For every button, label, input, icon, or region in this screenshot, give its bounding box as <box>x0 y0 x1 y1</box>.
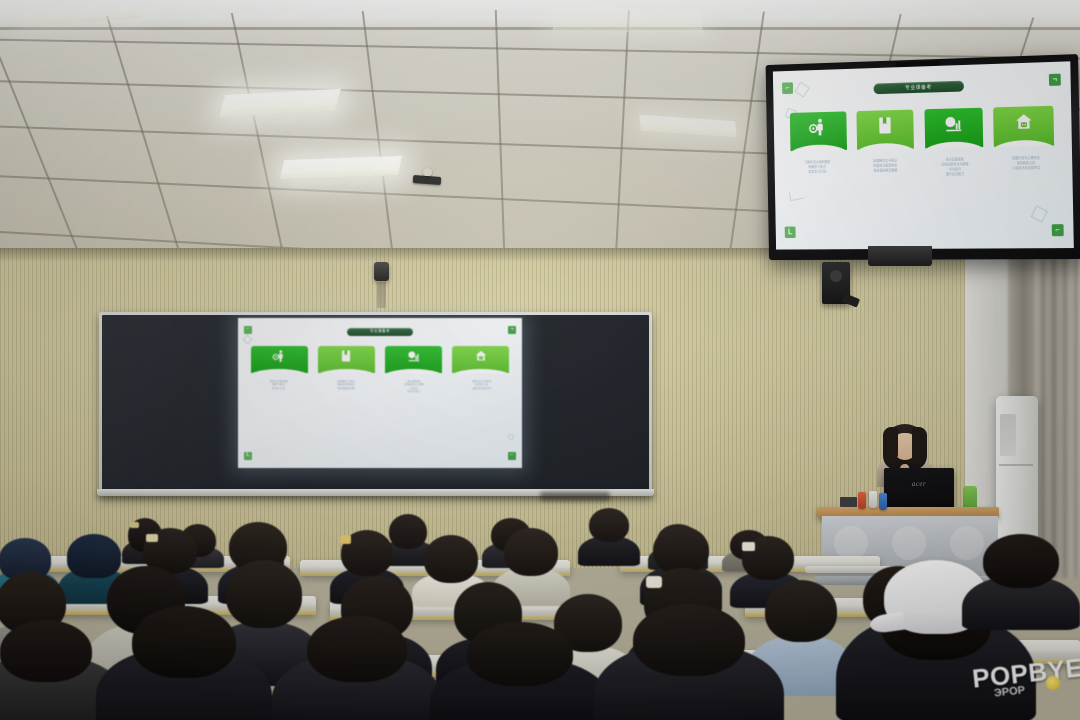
air-conditioner <box>996 396 1038 548</box>
student-head <box>467 622 573 686</box>
slide-blurb-row: 了解考试大纲和题型 明确学习重点 制定复习计划 梳理教材主干知识 构建知识框架体… <box>787 155 1059 179</box>
hair-clip <box>742 542 755 551</box>
slide-decoration <box>1031 205 1048 222</box>
water-bottle <box>858 492 866 509</box>
presenter-hair-left <box>883 427 898 461</box>
student <box>578 508 640 566</box>
presentation-slide: ⌐ ¬ L ⌐ 专业课备考 <box>773 61 1074 249</box>
presenter-hair-right <box>912 427 927 463</box>
corner-bottom-right-icon: ⌐ <box>508 452 516 460</box>
slide-card <box>385 346 442 373</box>
person-gear-icon <box>272 349 286 363</box>
slide-blurb: 重点真题演练 归纳高频考点与解题 方法技巧 提升应试能力 <box>923 157 986 178</box>
student <box>272 616 442 720</box>
student-head <box>653 526 709 574</box>
student-head <box>0 620 92 682</box>
slide-blurb: 了解考试大纲和题型 明确学习重点 制定复习计划 <box>248 381 309 395</box>
house-lock-icon <box>1013 111 1034 132</box>
tv-screen: ⌐ ¬ L ⌐ 专业课备考 <box>773 61 1074 249</box>
slide-title: 专业课备考 <box>873 81 964 95</box>
slide-blurb: 重点真题演练 归纳高频考点与解题 方法技巧 提升应试能力 <box>384 381 445 395</box>
slide-card <box>790 111 847 151</box>
slide-card-row <box>790 106 1054 151</box>
water-bottle <box>869 491 877 508</box>
chalk-smudge <box>540 492 610 501</box>
slide-card <box>251 346 308 373</box>
lecture-hall-photo: ⌐ ¬ L ⌐ 专业课备考 <box>0 0 1080 720</box>
slide-blurb: 了解考试大纲和题型 明确学习重点 制定复习计划 <box>787 160 848 180</box>
slide-decoration <box>508 434 514 440</box>
podium-panel <box>892 526 926 560</box>
projected-slide-area: ⌐ ¬ L ⌐ 专业课备考 <box>238 318 522 468</box>
slide-card <box>452 346 509 373</box>
student <box>430 622 610 720</box>
ceiling-grid-line <box>0 20 98 252</box>
student <box>594 604 784 720</box>
student-head <box>504 528 558 576</box>
slide-card <box>924 108 983 149</box>
ceiling-light-panel <box>639 115 736 138</box>
student-head <box>424 535 478 583</box>
corner-bottom-left-icon: L <box>785 227 796 239</box>
slide-blurb-row: 了解考试大纲和题型 明确学习重点 制定复习计划 梳理教材主干知识 构建知识框架体… <box>248 381 512 395</box>
hair-clip <box>646 576 662 588</box>
podium-panel <box>834 526 868 560</box>
laptop-brand-label: acer <box>912 480 926 488</box>
laptop: acer <box>884 468 954 510</box>
student-head <box>983 534 1059 588</box>
corner-bottom-right-icon: ⌐ <box>1052 224 1064 236</box>
corner-top-right-icon: ¬ <box>1049 74 1061 86</box>
corner-top-left-icon: ⌐ <box>244 326 252 334</box>
ceiling-light-panel <box>551 7 703 34</box>
ceiling-front-beam <box>0 0 1080 30</box>
slide-card <box>856 110 914 150</box>
book-bookmark-icon <box>875 115 895 136</box>
ceiling-light-panel <box>219 89 341 117</box>
marker-box <box>840 497 857 507</box>
ceiling-grid-line <box>495 10 507 252</box>
ac-seam <box>999 464 1033 466</box>
ceiling-grid-line <box>231 13 295 252</box>
hair-clip <box>340 535 351 544</box>
slide-card <box>993 106 1054 147</box>
corner-top-right-icon: ¬ <box>508 326 516 334</box>
globe-chart-icon <box>943 113 963 134</box>
ceiling-grid-line <box>0 36 1080 62</box>
tv-mount-bracket <box>868 246 932 266</box>
slide-decoration <box>789 190 805 201</box>
slide-decoration <box>795 82 810 98</box>
globe-chart-icon <box>407 349 421 363</box>
slide-title: 专业课备考 <box>347 328 413 336</box>
slide-decoration <box>243 335 253 345</box>
student-head <box>132 606 236 678</box>
book-bookmark-icon <box>339 349 353 363</box>
corner-bottom-left-icon: L <box>244 452 252 460</box>
wall-camera-icon <box>374 262 389 281</box>
presentation-slide: ⌐ ¬ L ⌐ 专业课备考 <box>238 318 522 468</box>
house-lock-icon <box>474 349 488 363</box>
student <box>962 534 1080 630</box>
student-head <box>633 604 745 676</box>
slide-blurb: 调整作息与心理状态 保持稳定心态 以最佳状态迎接考试 <box>451 381 512 395</box>
smoke-detector-icon <box>423 168 432 176</box>
student <box>96 606 272 720</box>
slide-card-row <box>251 346 509 373</box>
wall-mounted-display[interactable]: ⌐ ¬ L ⌐ 专业课备考 <box>766 54 1080 260</box>
slide-blurb: 梳理教材主干知识 构建知识框架体系 强化基础概念理解 <box>316 381 377 395</box>
student-head <box>589 508 629 542</box>
water-bottle <box>879 493 887 510</box>
hair-clip <box>146 534 158 542</box>
student-head <box>307 616 407 682</box>
ceiling-projector-icon <box>413 175 441 185</box>
slide-blurb: 调整作息与心理状态 保持稳定心态 以最佳状态迎接考试 <box>994 155 1059 176</box>
slide-blurb: 梳理教材主干知识 构建知识框架体系 强化基础概念理解 <box>854 158 916 178</box>
jacket-logo-dot <box>1046 676 1060 690</box>
ceiling-grid-line <box>612 10 630 252</box>
ac-vent <box>1000 414 1016 456</box>
slide-card <box>318 346 375 373</box>
corner-top-left-icon: ⌐ <box>782 82 793 94</box>
person-gear-icon <box>808 117 827 138</box>
